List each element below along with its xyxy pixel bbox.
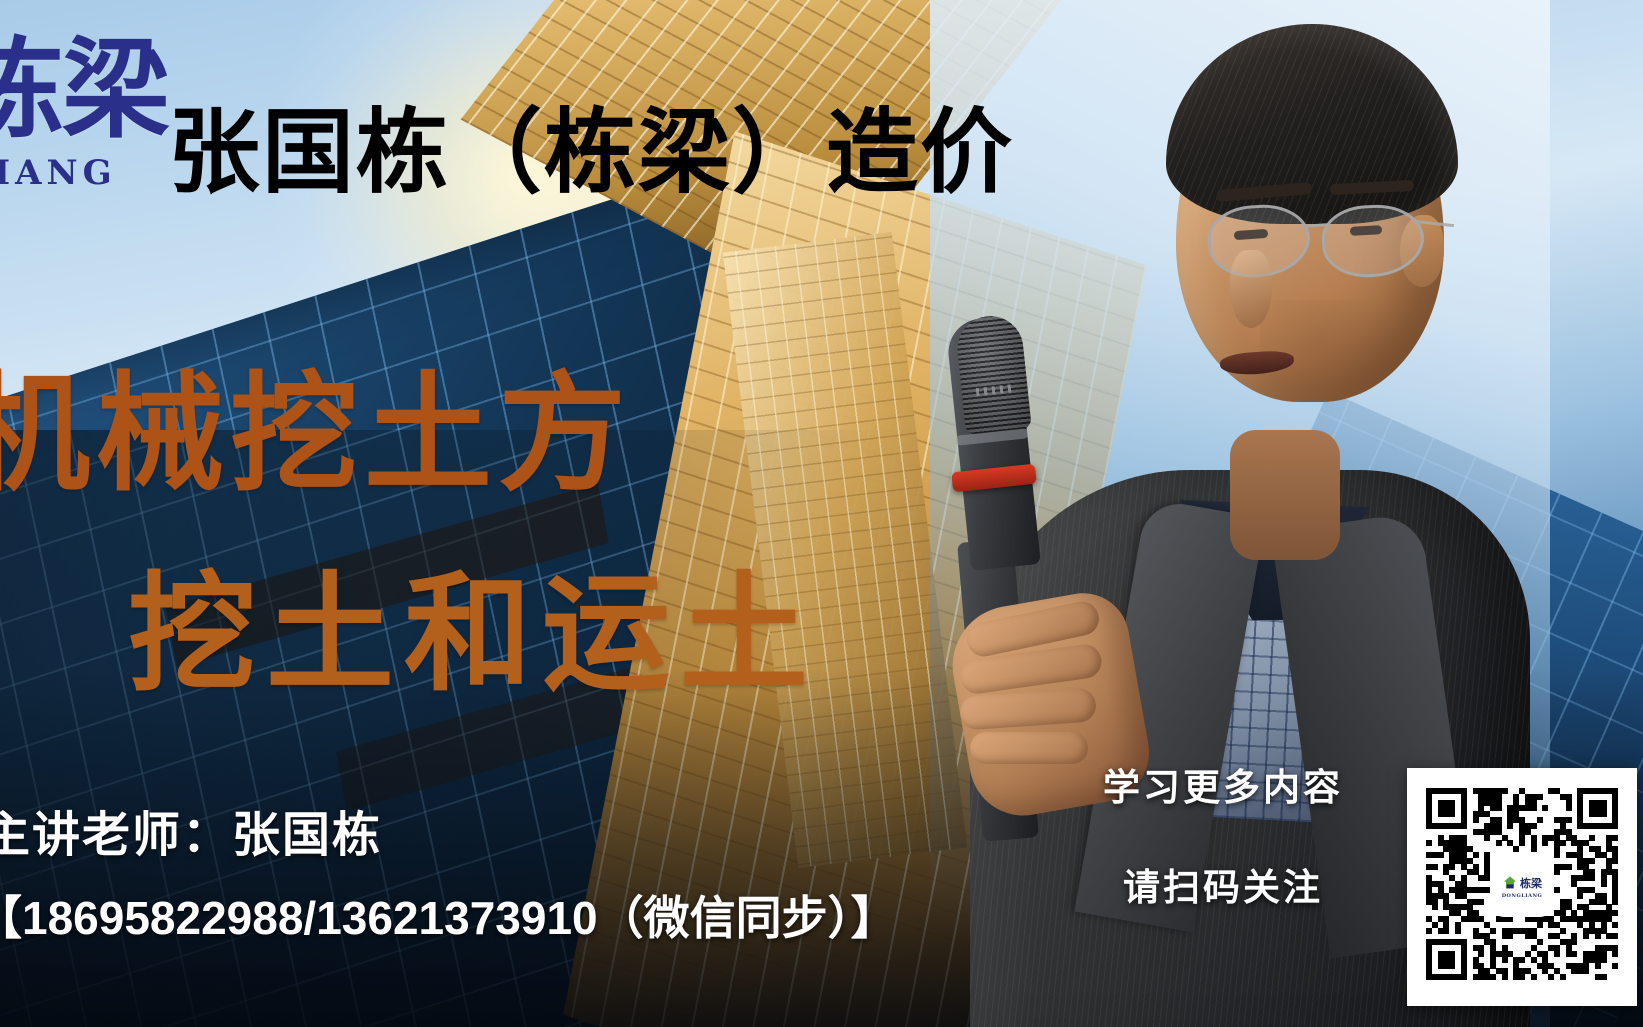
qr-code-card[interactable]: 栋梁 DONGLIANG xyxy=(1407,768,1637,1006)
presenter-nose xyxy=(1230,250,1272,328)
qr-center-logo: 栋梁 DONGLIANG xyxy=(1494,859,1550,915)
contact-phone-line: 【18695822988/13621373910（微信同步）】 xyxy=(0,882,897,948)
presenter-neck xyxy=(1230,430,1340,560)
topic-line-2: 挖土和运土 xyxy=(128,530,818,715)
qr-center-logo-en: DONGLIANG xyxy=(1502,893,1543,899)
call-to-action: 学习更多内容 请扫码关注 xyxy=(1103,757,1343,911)
cta-line-2: 请扫码关注 xyxy=(1103,857,1343,911)
course-title-card: 栋梁 LIANG 张国栋（栋梁）造价 机械挖土方 挖土和运土 主讲老师：张国栋 … xyxy=(0,0,1643,1027)
qr-center-logo-row: 栋梁 xyxy=(1502,875,1542,891)
house-icon xyxy=(1502,875,1518,891)
cta-line-1: 学习更多内容 xyxy=(1103,757,1343,811)
qr-center-logo-cn: 栋梁 xyxy=(1520,878,1542,889)
brand-logo-en: LIANG xyxy=(0,156,126,190)
brand-logo: 栋梁 LIANG xyxy=(0,36,126,246)
brand-title: 张国栋（栋梁）造价 xyxy=(168,78,1014,211)
instructor-line: 主讲老师：张国栋 xyxy=(0,795,382,865)
topic-line-1: 机械挖土方 xyxy=(0,330,632,515)
presenter-finger xyxy=(970,732,1088,764)
brand-logo-cn: 栋梁 xyxy=(0,36,126,144)
